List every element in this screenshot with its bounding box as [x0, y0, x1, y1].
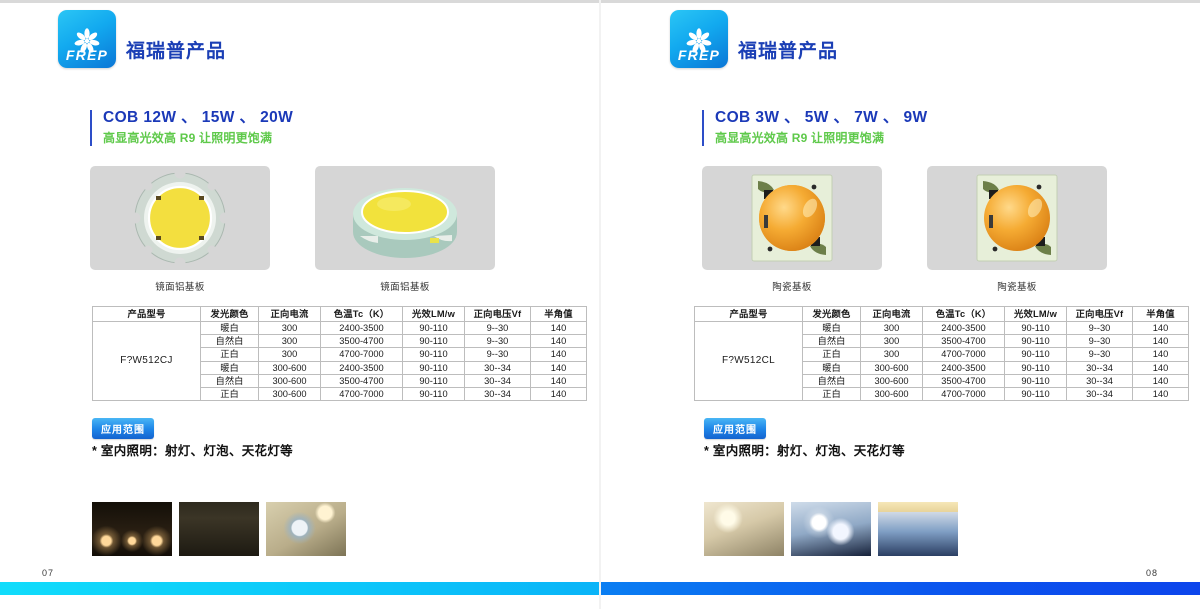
brand-name: 福瑞普产品	[738, 36, 838, 63]
cell-angle: 140	[1133, 335, 1189, 348]
cell-current: 300	[259, 348, 321, 361]
footer-bar	[600, 582, 1200, 595]
product-photo-caption: 镜面铝基板	[380, 279, 430, 293]
cell-current: 300-600	[861, 387, 923, 400]
cell-cct: 4700-7000	[923, 348, 1005, 361]
cell-current: 300	[861, 322, 923, 335]
application-text: * 室内照明：射灯、灯泡、天花灯等	[92, 440, 293, 459]
cell-angle: 140	[531, 374, 587, 387]
product-photo-2	[927, 166, 1107, 270]
application-badge: 应用范围	[92, 418, 154, 439]
cell-color: 正白	[803, 348, 861, 361]
cell-current: 300	[259, 322, 321, 335]
cell-angle: 140	[531, 387, 587, 400]
application-badge: 应用范围	[704, 418, 766, 439]
col-header-vf: 正向电压Vf	[465, 307, 531, 322]
application-gallery	[92, 502, 346, 556]
cell-color: 暖白	[803, 361, 861, 374]
section-title: COB 12W 、 15W 、 20W	[103, 108, 293, 128]
cell-cct: 3500-4700	[923, 335, 1005, 348]
product-photo-row: 陶瓷基板	[702, 166, 1107, 293]
cell-model: F?W512CJ	[93, 322, 201, 401]
section-title-block: COB 3W 、 5W 、 7W 、 9W 高显高光效高 R9 让照明更饱满	[702, 108, 928, 148]
cell-angle: 140	[1133, 322, 1189, 335]
section-title: COB 3W 、 5W 、 7W 、 9W	[715, 108, 928, 128]
table-row: F?W512CJ 暖白 300 2400-3500 90-110 9--30 1…	[93, 322, 587, 335]
cell-efficacy: 90-110	[403, 387, 465, 400]
cell-efficacy: 90-110	[403, 374, 465, 387]
cell-vf: 30--34	[1067, 374, 1133, 387]
cell-angle: 140	[1133, 387, 1189, 400]
cell-cct: 4700-7000	[321, 387, 403, 400]
catalog-page-left: FREP 福瑞普产品 COB 12W 、 15W 、 20W 高显高光效高 R9…	[0, 0, 600, 609]
cell-efficacy: 90-110	[403, 322, 465, 335]
cell-angle: 140	[531, 361, 587, 374]
cell-efficacy: 90-110	[1005, 335, 1067, 348]
cell-cct: 2400-3500	[321, 322, 403, 335]
cell-efficacy: 90-110	[403, 348, 465, 361]
spec-table-header-row: 产品型号 发光颜色 正向电流 色温Tc（K） 光效LM/w 正向电压Vf 半角值	[93, 307, 587, 322]
product-photo-cell: 镜面铝基板	[315, 166, 495, 293]
cell-vf: 30--34	[465, 387, 531, 400]
frep-logo: FREP	[58, 10, 116, 68]
catalog-spread: FREP 福瑞普产品 COB 12W 、 15W 、 20W 高显高光效高 R9…	[0, 0, 1200, 609]
spec-table: 产品型号 发光颜色 正向电流 色温Tc（K） 光效LM/w 正向电压Vf 半角值…	[92, 306, 587, 401]
col-header-model: 产品型号	[695, 307, 803, 322]
product-photo-cell: 陶瓷基板	[927, 166, 1107, 293]
page-number: 08	[1146, 568, 1158, 578]
cell-vf: 30--34	[1067, 361, 1133, 374]
cell-current: 300-600	[259, 387, 321, 400]
col-header-angle: 半角值	[1133, 307, 1189, 322]
col-header-cct: 色温Tc（K）	[321, 307, 403, 322]
section-subtitle: 高显高光效高 R9 让照明更饱满	[103, 129, 293, 148]
cell-angle: 140	[1133, 361, 1189, 374]
cell-cct: 4700-7000	[321, 348, 403, 361]
cell-color: 正白	[803, 387, 861, 400]
cell-current: 300-600	[861, 374, 923, 387]
gallery-photo-office-panel	[704, 502, 784, 556]
cell-efficacy: 90-110	[1005, 374, 1067, 387]
catalog-page-right: FREP 福瑞普产品 COB 3W 、 5W 、 7W 、 9W 高显高光效高 …	[600, 0, 1200, 609]
cell-efficacy: 90-110	[403, 335, 465, 348]
cell-angle: 140	[1133, 374, 1189, 387]
product-photo-cell: 陶瓷基板	[702, 166, 882, 293]
angled-cob-led-icon	[342, 170, 468, 266]
table-row: F?W512CL 暖白 300 2400-3500 90-110 9--30 1…	[695, 322, 1189, 335]
page-bottom-edge	[0, 600, 600, 609]
page-bottom-edge	[600, 600, 1200, 609]
cell-cct: 3500-4700	[321, 374, 403, 387]
spec-table: 产品型号 发光颜色 正向电流 色温Tc（K） 光效LM/w 正向电压Vf 半角值…	[694, 306, 1189, 401]
gallery-photo-led-bulbs	[791, 502, 871, 556]
cell-cct: 2400-3500	[923, 361, 1005, 374]
col-header-efficacy: 光效LM/w	[1005, 307, 1067, 322]
application-text: * 室内照明：射灯、灯泡、天花灯等	[704, 440, 905, 459]
col-header-current: 正向电流	[259, 307, 321, 322]
page-number: 07	[42, 568, 54, 578]
spec-table-header-row: 产品型号 发光颜色 正向电流 色温Tc（K） 光效LM/w 正向电压Vf 半角值	[695, 307, 1189, 322]
gallery-photo-ceiling-downlight	[266, 502, 346, 556]
product-photo-caption: 陶瓷基板	[772, 279, 812, 293]
cell-color: 正白	[201, 348, 259, 361]
product-photo-caption: 镜面铝基板	[155, 279, 205, 293]
cell-color: 自然白	[803, 335, 861, 348]
gallery-photo-track-lighting	[92, 502, 172, 556]
cell-color: 自然白	[201, 374, 259, 387]
col-header-color: 发光颜色	[803, 307, 861, 322]
cell-vf: 9--30	[465, 348, 531, 361]
cell-cct: 4700-7000	[923, 387, 1005, 400]
col-header-model: 产品型号	[93, 307, 201, 322]
cell-efficacy: 90-110	[1005, 322, 1067, 335]
brand-header: FREP 福瑞普产品	[670, 10, 838, 68]
col-header-vf: 正向电压Vf	[1067, 307, 1133, 322]
cell-angle: 140	[531, 348, 587, 361]
cell-color: 正白	[201, 387, 259, 400]
square-ceramic-cob-led-icon-2	[969, 170, 1065, 266]
cell-model: F?W512CL	[695, 322, 803, 401]
cell-current: 300	[861, 335, 923, 348]
square-ceramic-cob-led-icon	[744, 170, 840, 266]
brand-name: 福瑞普产品	[126, 36, 226, 63]
gallery-photo-retail-store	[179, 502, 259, 556]
product-photo-row: 镜面铝基板	[90, 166, 495, 293]
cell-current: 300-600	[861, 361, 923, 374]
brand-header: FREP 福瑞普产品	[58, 10, 226, 68]
cell-color: 暖白	[201, 361, 259, 374]
cell-vf: 9--30	[465, 335, 531, 348]
cell-efficacy: 90-110	[403, 361, 465, 374]
cell-angle: 140	[1133, 348, 1189, 361]
section-title-block: COB 12W 、 15W 、 20W 高显高光效高 R9 让照明更饱满	[90, 108, 293, 148]
cell-current: 300	[861, 348, 923, 361]
cell-color: 自然白	[803, 374, 861, 387]
round-cob-led-icon	[132, 170, 228, 266]
cell-current: 300	[259, 335, 321, 348]
section-subtitle: 高显高光效高 R9 让照明更饱满	[715, 129, 928, 148]
frep-logo: FREP	[670, 10, 728, 68]
product-photo-cell: 镜面铝基板	[90, 166, 270, 293]
cell-cct: 2400-3500	[321, 361, 403, 374]
cell-current: 300-600	[259, 374, 321, 387]
cell-vf: 30--34	[465, 374, 531, 387]
cell-vf: 30--34	[1067, 387, 1133, 400]
cell-vf: 9--30	[1067, 335, 1133, 348]
cell-vf: 9--30	[1067, 348, 1133, 361]
cell-cct: 3500-4700	[923, 374, 1005, 387]
col-header-efficacy: 光效LM/w	[403, 307, 465, 322]
product-photo-caption: 陶瓷基板	[997, 279, 1037, 293]
footer-bar	[0, 582, 600, 595]
cell-vf: 9--30	[1067, 322, 1133, 335]
product-photo-2	[315, 166, 495, 270]
col-header-angle: 半角值	[531, 307, 587, 322]
cell-cct: 2400-3500	[923, 322, 1005, 335]
cell-efficacy: 90-110	[1005, 387, 1067, 400]
application-gallery	[704, 502, 958, 556]
cell-efficacy: 90-110	[1005, 361, 1067, 374]
product-photo-1	[702, 166, 882, 270]
gallery-photo-interior-strip	[878, 502, 958, 556]
cell-cct: 3500-4700	[321, 335, 403, 348]
logo-wordmark: FREP	[58, 47, 116, 63]
cell-efficacy: 90-110	[1005, 348, 1067, 361]
cell-color: 暖白	[803, 322, 861, 335]
col-header-color: 发光颜色	[201, 307, 259, 322]
cell-angle: 140	[531, 322, 587, 335]
cell-current: 300-600	[259, 361, 321, 374]
cell-angle: 140	[531, 335, 587, 348]
col-header-current: 正向电流	[861, 307, 923, 322]
logo-wordmark: FREP	[670, 47, 728, 63]
cell-vf: 30--34	[465, 361, 531, 374]
col-header-cct: 色温Tc（K）	[923, 307, 1005, 322]
cell-color: 自然白	[201, 335, 259, 348]
cell-color: 暖白	[201, 322, 259, 335]
product-photo-1	[90, 166, 270, 270]
page-gutter	[599, 0, 601, 609]
cell-vf: 9--30	[465, 322, 531, 335]
